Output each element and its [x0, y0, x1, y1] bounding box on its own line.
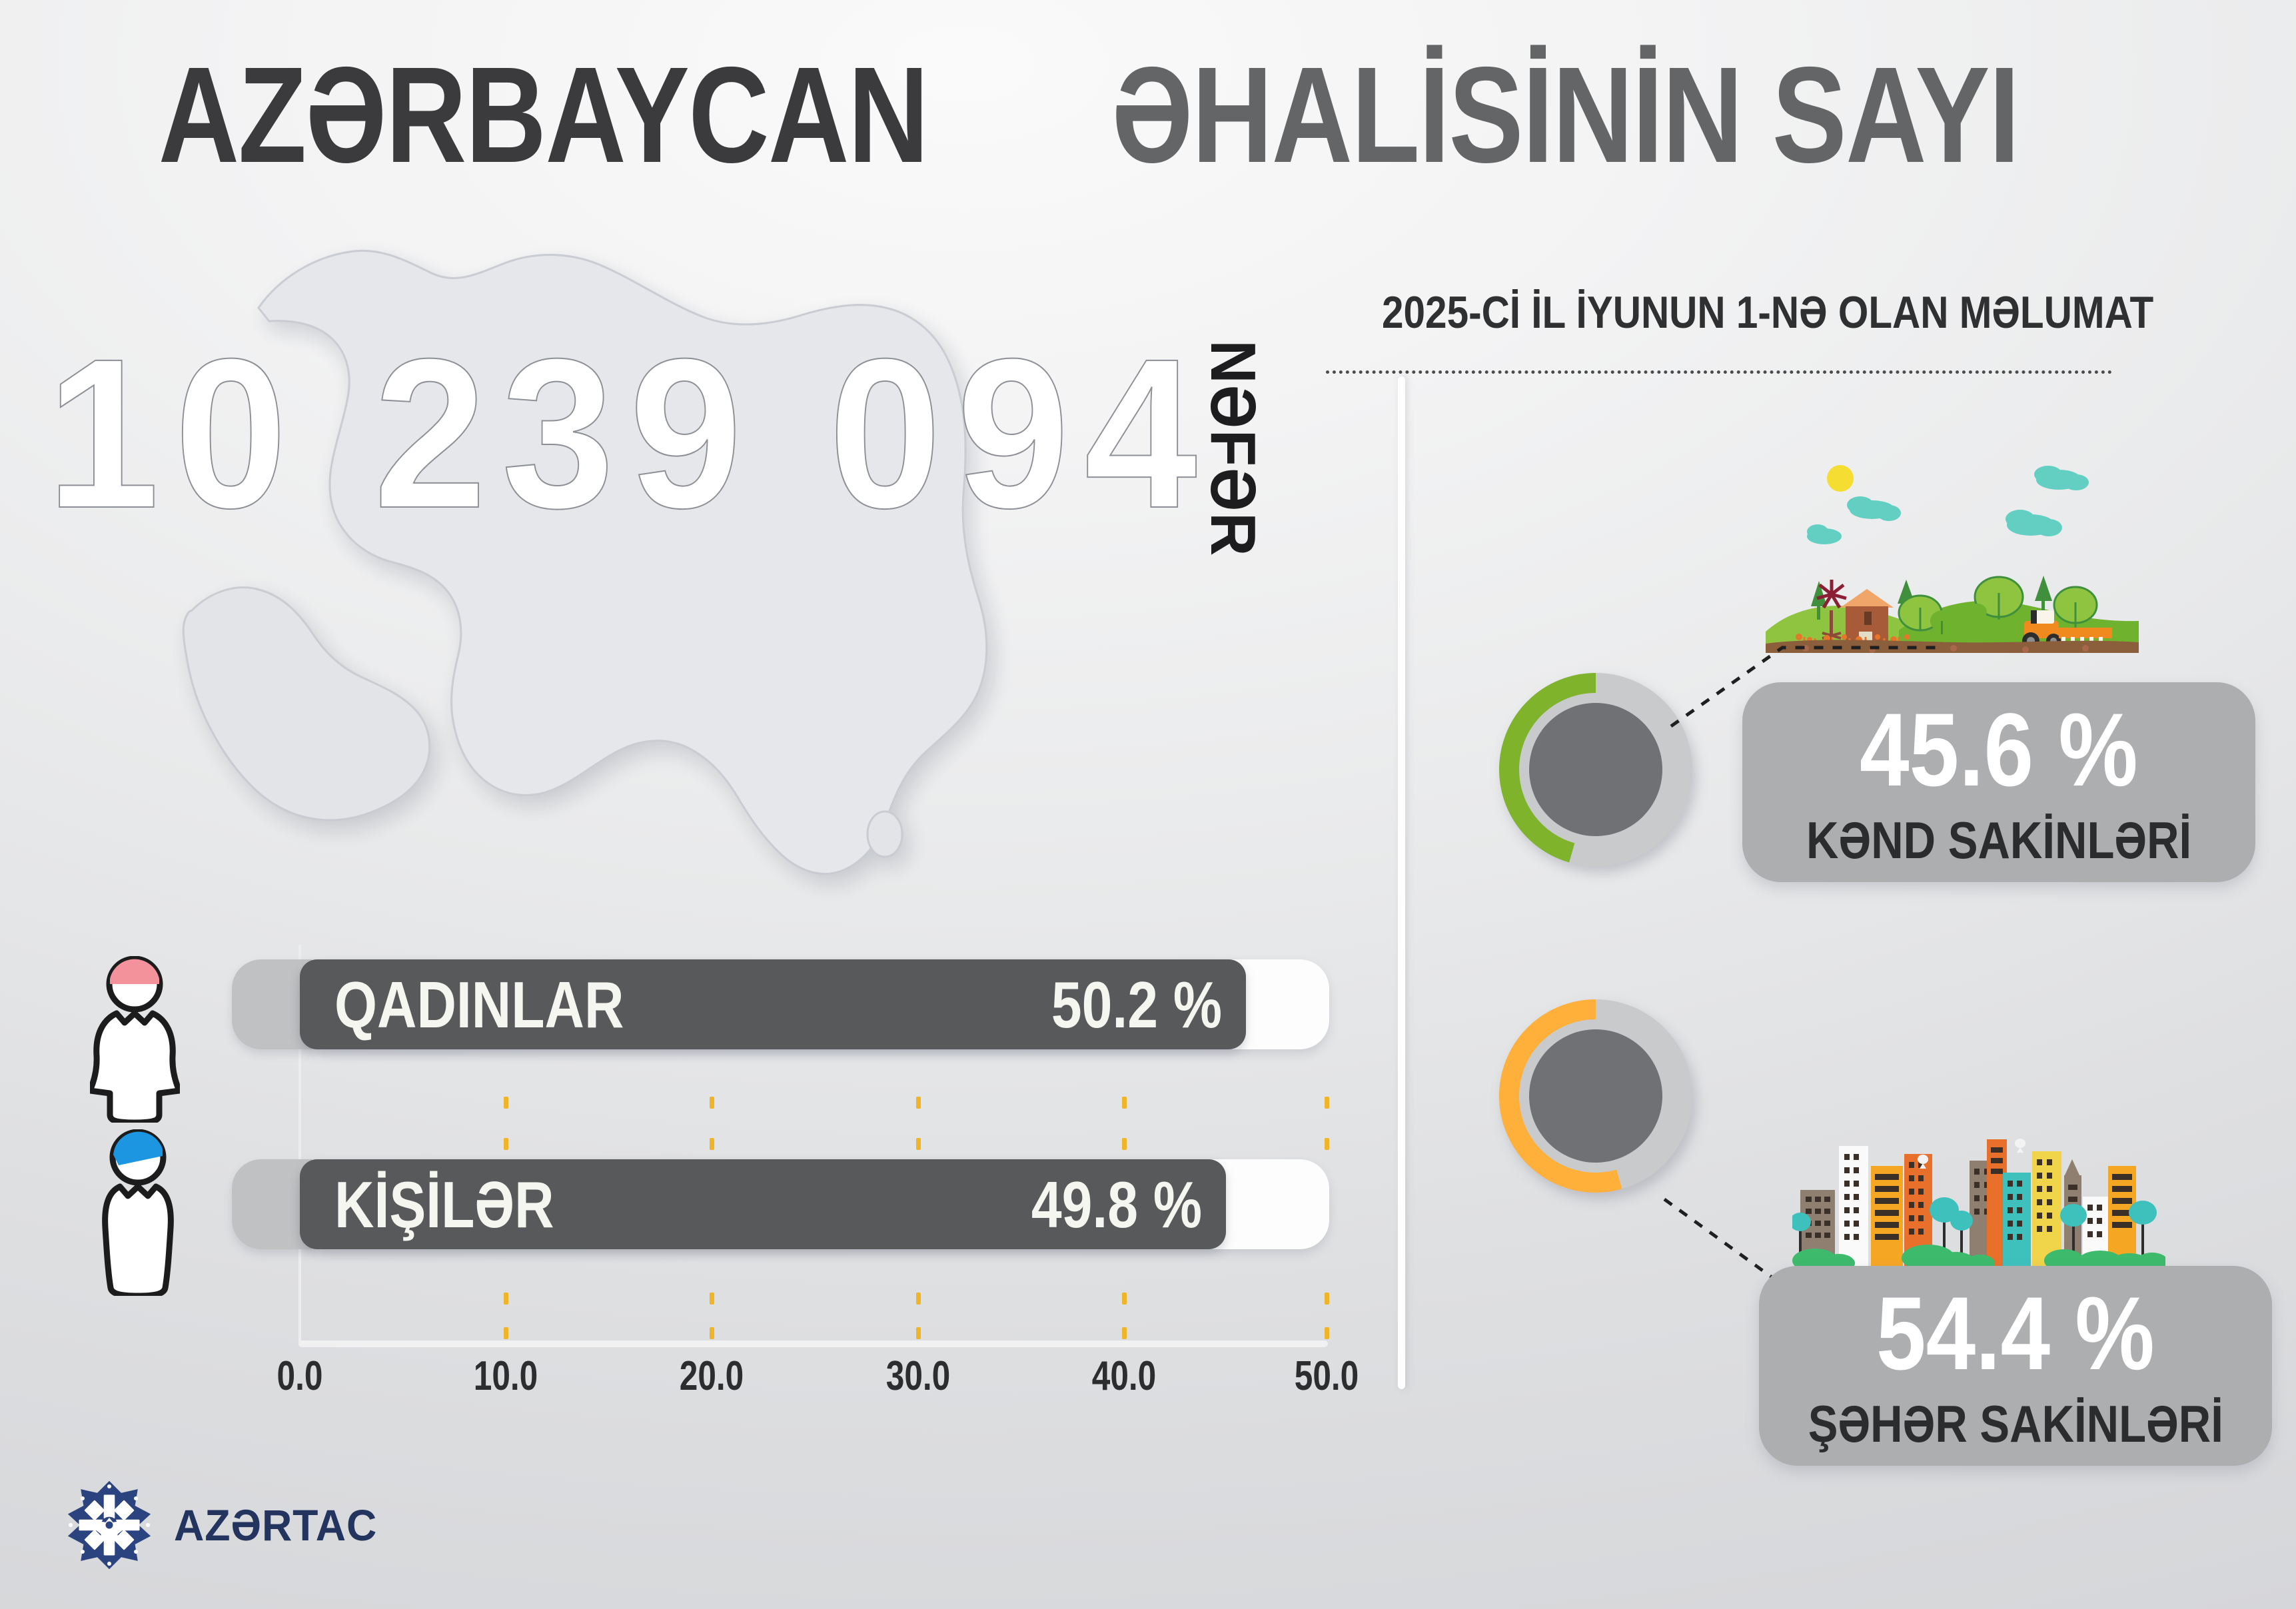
village-illustration	[1766, 453, 2139, 653]
infographic-canvas: AZƏRBAYCAN ƏHALİSİNİN SAYI 2025-Cİ İL İY…	[0, 0, 2296, 1609]
urban-percent: 54.4 %	[1876, 1282, 2155, 1386]
axis-tick-label: 0.0	[277, 1352, 323, 1400]
tick-mark	[504, 1097, 508, 1109]
bar-label-women: QADINLAR	[334, 972, 624, 1037]
tick-mark	[710, 1293, 714, 1305]
tick-mark	[1325, 1138, 1329, 1150]
rural-stat-card: 45.6 % KƏND SAKİNLƏRİ	[1742, 682, 2255, 882]
donut-hole	[1529, 703, 1662, 836]
tick-mark	[916, 1293, 921, 1305]
title-part-1: AZƏRBAYCAN	[158, 47, 927, 183]
tick-mark	[916, 1327, 921, 1339]
bar-label-men: KİŞİLƏR	[334, 1172, 554, 1237]
subtitle-divider	[1326, 370, 2112, 374]
title-part-2: ƏHALİSİNİN SAYI	[1111, 47, 2019, 183]
tick-mark	[710, 1138, 714, 1150]
rural-percent: 45.6 %	[1860, 698, 2138, 802]
axis-tick-label: 40.0	[1092, 1352, 1157, 1400]
tick-mark	[504, 1138, 508, 1150]
tick-mark	[504, 1293, 508, 1305]
azertac-logo-text: AZƏRTAC	[174, 1500, 377, 1550]
axis-baseline	[298, 1341, 1328, 1347]
bar-fill-men[interactable]: KİŞİLƏR 49.8 %	[300, 1159, 1226, 1249]
section-divider	[1398, 376, 1405, 1389]
population-unit: NƏFƏR	[1196, 340, 1269, 557]
tick-mark	[1325, 1327, 1329, 1339]
tick-mark	[1325, 1293, 1329, 1305]
subtitle: 2025-Cİ İL İYUNUN 1-NƏ OLAN MƏLUMAT	[1382, 286, 2069, 338]
female-person-icon	[90, 956, 180, 1123]
axis-tick-label: 20.0	[680, 1352, 744, 1400]
donut-hole	[1529, 1029, 1662, 1163]
tick-mark	[1122, 1097, 1127, 1109]
male-person-icon	[93, 1129, 183, 1296]
tick-mark	[1122, 1138, 1127, 1150]
tick-mark	[504, 1327, 508, 1339]
bar-value-women: 50.2 %	[1051, 972, 1222, 1037]
bar-value-men: 49.8 %	[1031, 1172, 1202, 1237]
population-total: 10 239 094	[47, 326, 1212, 540]
bar-fill-women[interactable]: QADINLAR 50.2 %	[300, 959, 1246, 1049]
urban-stat-card: 54.4 % ŞƏHƏR SAKİNLƏRİ	[1759, 1266, 2272, 1466]
tick-mark	[916, 1138, 921, 1150]
tick-mark	[1122, 1327, 1127, 1339]
azertac-logo[interactable]: AZƏRTAC	[63, 1479, 388, 1571]
tick-mark	[1122, 1293, 1127, 1305]
tick-mark	[710, 1097, 714, 1109]
axis-tick-label: 10.0	[474, 1352, 538, 1400]
axis-tick-label: 30.0	[886, 1352, 951, 1400]
gender-bar-chart: QADINLAR 50.2 % KİŞİLƏR 49.8 % 0	[0, 933, 1373, 1399]
tick-mark	[1325, 1097, 1329, 1109]
axis-tick-label: 50.0	[1295, 1352, 1359, 1400]
rural-label: KƏND SAKİNLƏRİ	[1806, 814, 2191, 866]
azertac-star-logo-icon	[63, 1479, 155, 1571]
page-title: AZƏRBAYCAN ƏHALİSİNİN SAYI	[0, 47, 2192, 183]
urban-label: ŞƏHƏR SAKİNLƏRİ	[1808, 1398, 2223, 1450]
tick-mark	[710, 1327, 714, 1339]
tick-mark	[916, 1097, 921, 1109]
